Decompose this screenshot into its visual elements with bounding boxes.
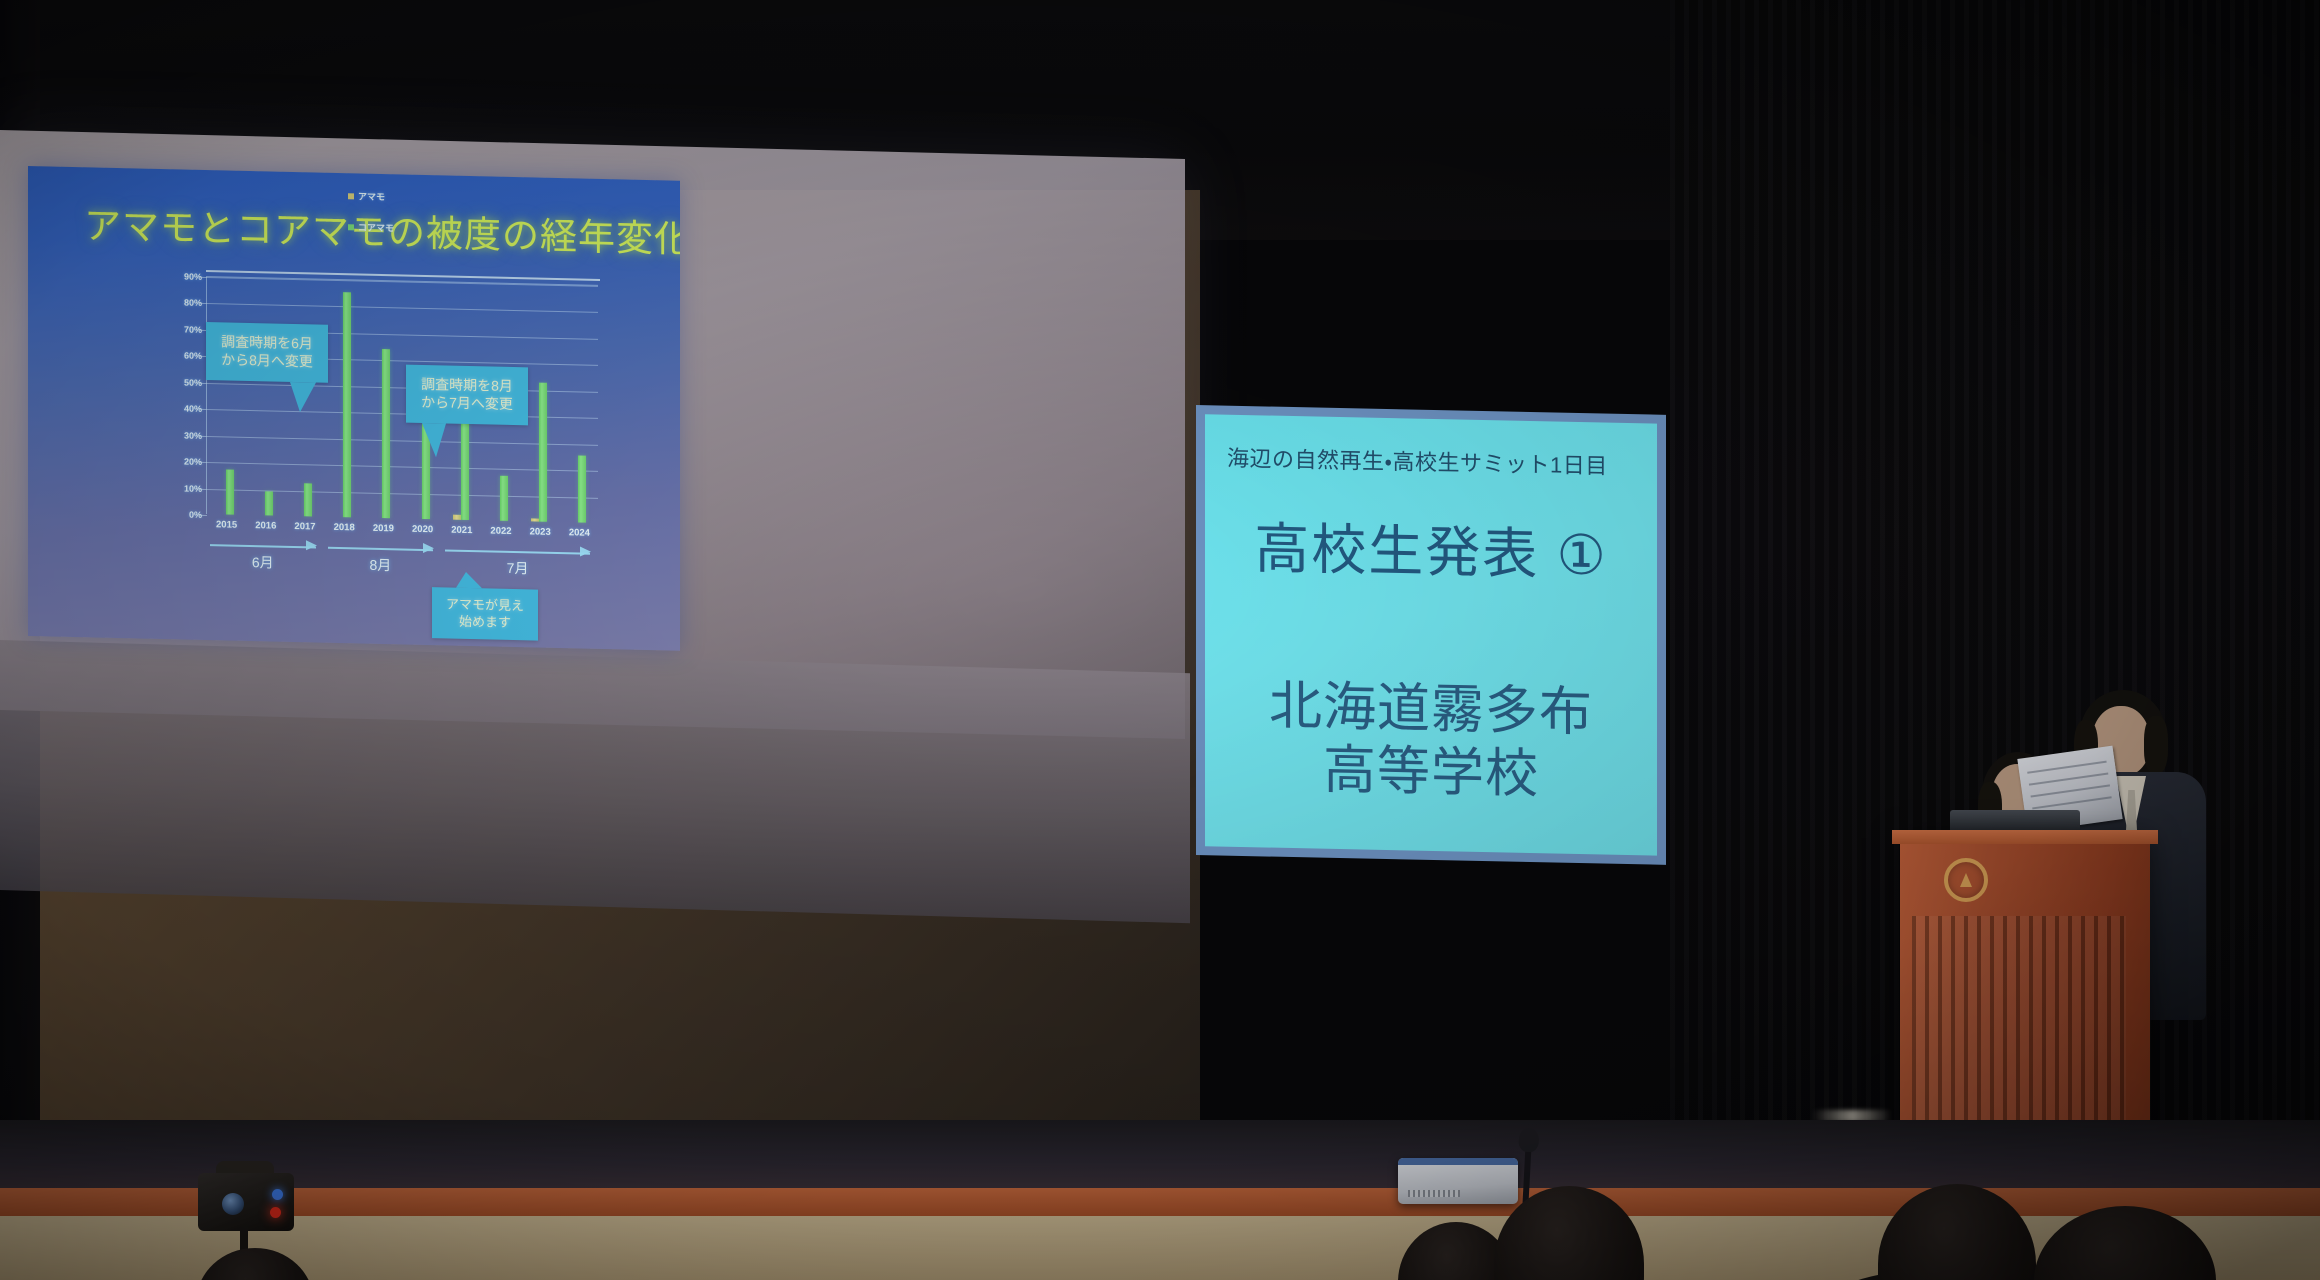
chart-x-tick-label: 2023 <box>530 526 551 537</box>
chart-gridline <box>207 303 598 313</box>
chart-x-tick-label: 2015 <box>216 519 237 530</box>
period-arrow-line <box>445 549 590 554</box>
legend-swatch-amamo <box>348 193 354 199</box>
projector <box>1398 1158 1518 1204</box>
callout-2-line-1: 調査時期を8月 <box>418 375 516 396</box>
chart-x-tick-label: 2024 <box>569 527 590 538</box>
camera-record-led-icon <box>270 1207 281 1218</box>
chart-x-tick-label: 2020 <box>412 524 433 535</box>
callout-2-tail <box>422 423 446 458</box>
session-school: 北海道霧多布 高等学校 <box>1227 675 1635 809</box>
slide-inner: 海辺の自然再生・高校生サミット1日目 高校生発表 ① 北海道霧多布 高等学校 <box>1205 414 1657 855</box>
chart-bar <box>539 383 547 522</box>
callout-3-line-1: アマモが見え <box>440 595 530 614</box>
session-kicker: 海辺の自然再生・高校生サミット1日目 <box>1227 441 1635 482</box>
slide-bar-chart: アマモとコアマモの被度の経年変化 0%10%20%30%40%50%60%70%… <box>28 166 680 651</box>
callout-survey-august-to-july: 調査時期を8月 から7月へ変更 <box>406 365 528 426</box>
chart-period-band: 6月 <box>210 540 316 576</box>
chart-plot-area: 0%10%20%30%40%50%60%70%80%90%20152016201… <box>206 276 598 523</box>
projection-screen-lower <box>0 640 1190 923</box>
chart-bar <box>226 470 234 515</box>
chart-y-tick-mark <box>200 515 207 516</box>
legend-label-amamo: アマモ <box>358 189 385 203</box>
camera-lens-icon <box>222 1193 244 1215</box>
session-heading: 高校生発表 ① <box>1227 503 1635 592</box>
period-label: 6月 <box>252 552 274 572</box>
chart-bar <box>343 292 351 517</box>
chart-y-tick-mark <box>200 462 207 463</box>
slide-frame: 海辺の自然再生・高校生サミット1日目 高校生発表 ① 北海道霧多布 高等学校 <box>1196 405 1666 865</box>
chart-bar <box>578 455 586 523</box>
projector-top <box>1398 1158 1518 1165</box>
period-arrow-line <box>328 547 434 551</box>
projector-vent <box>1408 1190 1460 1197</box>
chart-y-tick-mark <box>200 383 207 384</box>
period-arrow-head-icon <box>580 547 591 557</box>
chart-x-tick-label: 2016 <box>255 520 276 531</box>
callout-1-line-2: から8月へ変更 <box>218 351 316 372</box>
camera-status-led-blue <box>272 1189 283 1200</box>
callout-1-tail <box>290 382 316 413</box>
callout-1-line-1: 調査時期を6月 <box>218 332 316 353</box>
period-arrow-head-icon <box>306 540 317 550</box>
school-line-1: 北海道霧多布 <box>1227 675 1635 746</box>
chart-legend: アマモ コアマモ <box>348 189 394 252</box>
chart-y-tick-mark <box>200 409 207 410</box>
legend-swatch-koamamo <box>348 224 354 230</box>
callout-3-tail <box>456 572 482 589</box>
period-label: 7月 <box>507 558 529 578</box>
chart-period-band: 8月 <box>328 543 434 579</box>
chart-bar <box>500 476 508 521</box>
callout-2-line-2: から7月へ変更 <box>418 393 516 414</box>
chart-x-tick-label: 2021 <box>451 525 472 536</box>
presenter-right-hair-side-right <box>2144 716 2168 774</box>
microphone-icon <box>1518 1128 1539 1153</box>
chart-y-tick-mark <box>200 277 207 278</box>
chart-y-tick-mark <box>200 436 207 437</box>
callout-3-line-2: 始めます <box>440 613 530 632</box>
callout-survey-june-to-august: 調査時期を6月 から8月へ変更 <box>206 322 328 383</box>
chart-bar <box>453 514 461 519</box>
legend-label-koamamo: コアマモ <box>358 220 394 234</box>
chart-y-tick-mark <box>200 488 207 489</box>
chart-x-tick-label: 2017 <box>294 521 315 532</box>
period-arrow-line <box>210 544 316 548</box>
chart-bar <box>304 483 312 516</box>
legend-item-koamamo: コアマモ <box>348 220 394 234</box>
chart-y-tick-mark <box>200 303 207 304</box>
chart-x-tick-label: 2022 <box>490 525 511 536</box>
chart-bar <box>531 519 539 522</box>
chart-bar <box>382 349 390 518</box>
legend-item-amamo: アマモ <box>348 189 394 203</box>
bar-chart: 0%10%20%30%40%50%60%70%80%90%20152016201… <box>168 269 600 551</box>
chart-x-tick-label: 2018 <box>334 522 355 533</box>
slide-session-title: 海辺の自然再生・高校生サミット1日目 高校生発表 ① 北海道霧多布 高等学校 <box>1196 405 1666 865</box>
school-line-2: 高等学校 <box>1227 737 1635 808</box>
auditorium-scene: アマモとコアマモの被度の経年変化 0%10%20%30%40%50%60%70%… <box>0 0 2320 1280</box>
podium-emblem-icon <box>1944 858 1988 902</box>
period-arrow-head-icon <box>423 543 434 553</box>
podium-top-surface <box>1892 830 2158 844</box>
chart-bar <box>265 492 273 516</box>
period-label: 8月 <box>369 555 391 575</box>
camera-body <box>198 1173 294 1231</box>
chart-x-tick-label: 2019 <box>373 523 394 534</box>
callout-amamo-appears: アマモが見え 始めます <box>432 587 538 641</box>
stage-front-edge <box>0 1120 2320 1190</box>
